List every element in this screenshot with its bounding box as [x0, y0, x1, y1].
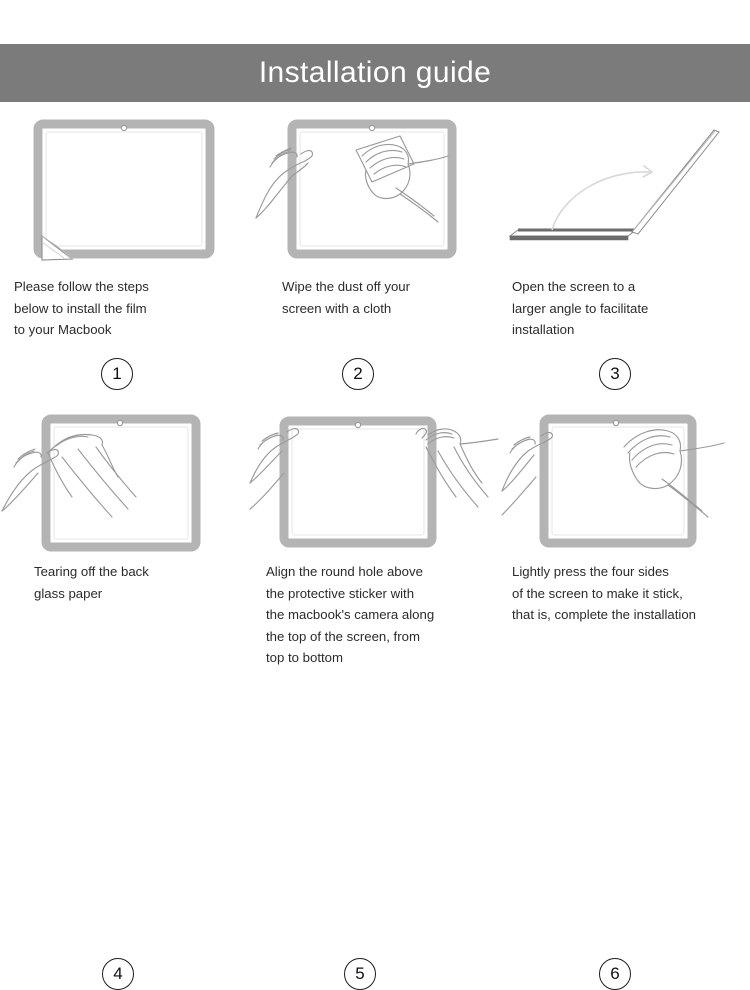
step-number-badge: 5	[344, 958, 376, 990]
step-caption: Open the screen to a larger angle to fac…	[500, 276, 750, 341]
step-panel-2: Wipe the dust off your screen with a clo…	[250, 118, 500, 413]
step-caption: Lightly press the four sides of the scre…	[500, 561, 750, 626]
step-caption: Wipe the dust off your screen with a clo…	[250, 276, 500, 319]
illustration-screen-with-peeling-film	[0, 118, 250, 266]
step-caption: Tearing off the back glass paper	[0, 561, 250, 604]
page-title: Installation guide	[259, 56, 491, 90]
installation-guide-page: Installation guide Please follo	[0, 0, 750, 750]
illustration-aligning-film	[250, 413, 500, 561]
step-panel-3: Open the screen to a larger angle to fac…	[500, 118, 750, 413]
step-number-badge: 6	[599, 958, 631, 990]
step-caption: Please follow the steps below to install…	[0, 276, 250, 341]
step-caption: Align the round hole above the protectiv…	[250, 561, 500, 669]
step-panel-1: Please follow the steps below to install…	[0, 118, 250, 413]
illustration-laptop-open-angle	[500, 118, 750, 266]
illustration-pressing-screen-edges	[500, 413, 750, 561]
step-number-badge: 2	[342, 358, 374, 390]
illustration-tearing-backing-paper	[0, 413, 250, 561]
step-number-badge: 1	[101, 358, 133, 390]
header-banner: Installation guide	[0, 44, 750, 102]
steps-grid: Please follow the steps below to install…	[0, 118, 750, 738]
step-number-badge: 3	[599, 358, 631, 390]
step-panel-4: Tearing off the back glass paper 4	[0, 413, 250, 708]
step-number-badge: 4	[102, 958, 134, 990]
step-panel-5: Align the round hole above the protectiv…	[250, 413, 500, 708]
step-panel-6: Lightly press the four sides of the scre…	[500, 413, 750, 708]
illustration-wiping-screen	[250, 118, 500, 266]
